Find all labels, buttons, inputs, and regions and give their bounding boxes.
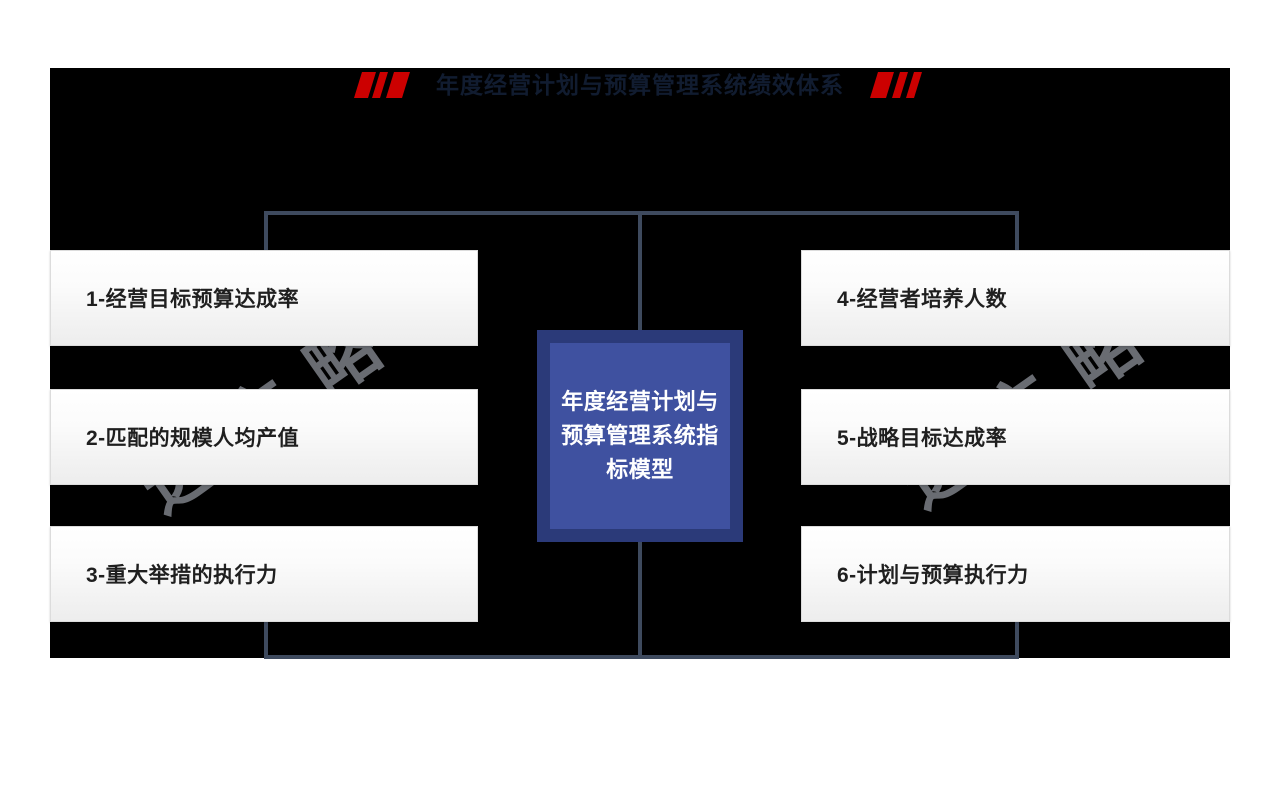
connector-center-lower-vertical bbox=[638, 540, 642, 659]
connector-top-right-vertical bbox=[1015, 211, 1019, 250]
node-box-4[interactable]: 4-经营者培养人数 bbox=[801, 250, 1230, 346]
connector-center-upper-vertical bbox=[638, 211, 642, 331]
red-slash-bars-left-icon bbox=[354, 70, 410, 100]
connector-bottom-left-vertical bbox=[264, 618, 268, 659]
page-title: 年度经营计划与预算管理系统绩效体系 bbox=[436, 70, 844, 100]
slide-title-row: 年度经营计划与预算管理系统绩效体系 bbox=[50, 68, 1230, 102]
node-label-6: 6-计划与预算执行力 bbox=[802, 559, 1029, 589]
red-slash-bars-right-icon bbox=[870, 70, 926, 100]
slide-canvas: 远 方 略 远 方 略 年度经营计划与预算管理系统绩效体系 1-经营目标预算达成… bbox=[0, 0, 1280, 804]
node-label-3: 3-重大举措的执行力 bbox=[51, 559, 278, 589]
node-box-1[interactable]: 1-经营目标预算达成率 bbox=[50, 250, 478, 346]
node-box-3[interactable]: 3-重大举措的执行力 bbox=[50, 526, 478, 622]
node-box-2[interactable]: 2-匹配的规模人均产值 bbox=[50, 389, 478, 485]
center-hub-inner: 年度经营计划与预算管理系统指标模型 bbox=[550, 343, 730, 529]
connector-bottom-right-vertical bbox=[1015, 618, 1019, 659]
center-hub-box[interactable]: 年度经营计划与预算管理系统指标模型 bbox=[537, 330, 743, 542]
node-label-2: 2-匹配的规模人均产值 bbox=[51, 422, 299, 452]
node-label-1: 1-经营目标预算达成率 bbox=[51, 283, 299, 313]
node-label-4: 4-经营者培养人数 bbox=[802, 283, 1007, 313]
center-hub-label: 年度经营计划与预算管理系统指标模型 bbox=[556, 385, 724, 487]
node-label-5: 5-战略目标达成率 bbox=[802, 422, 1007, 452]
node-box-6[interactable]: 6-计划与预算执行力 bbox=[801, 526, 1230, 622]
connector-top-left-vertical bbox=[264, 211, 268, 250]
connector-bottom-horizontal bbox=[264, 655, 1019, 659]
node-box-5[interactable]: 5-战略目标达成率 bbox=[801, 389, 1230, 485]
